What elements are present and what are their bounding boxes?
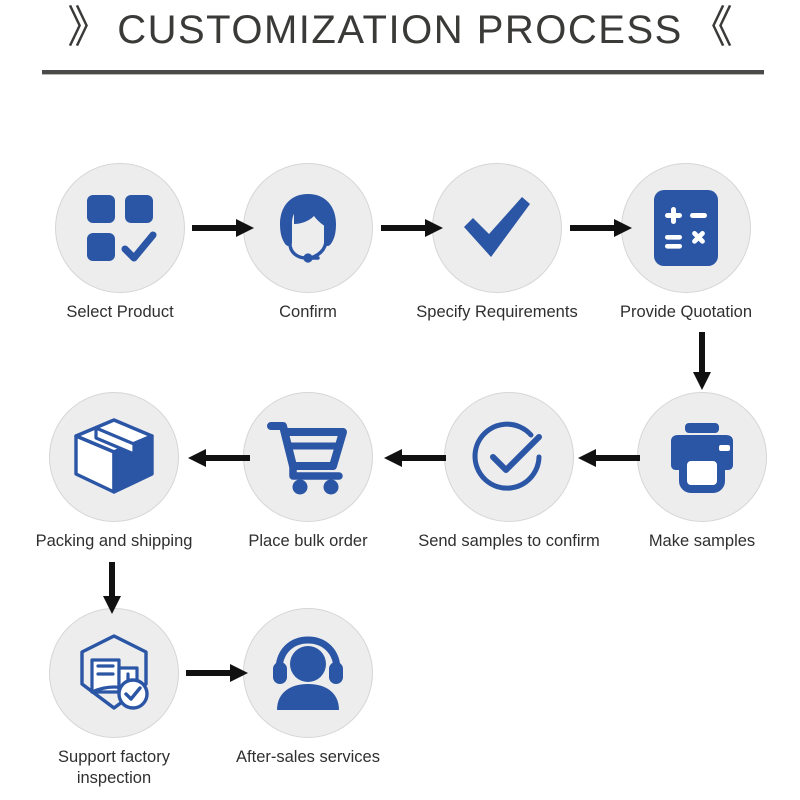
step-icon-circle	[49, 608, 179, 738]
connector-specify-to-quotation	[570, 216, 632, 240]
arrow-right-icon	[186, 661, 248, 685]
header-divider	[42, 70, 764, 75]
step-label: After-sales services	[208, 747, 408, 768]
step-label: Packing and shipping	[14, 531, 214, 552]
printer-icon	[661, 421, 743, 493]
connector-make-samples-to-send-samples	[578, 446, 640, 470]
step-make-samples[interactable]: Make samples	[602, 392, 800, 552]
step-place-bulk-order[interactable]: Place bulk order	[208, 392, 408, 552]
shopping-cart-icon	[267, 418, 349, 496]
grid-check-icon	[83, 191, 157, 265]
page-title: CUSTOMIZATION PROCESS	[117, 10, 683, 50]
box-icon	[72, 416, 156, 498]
headset-person-icon	[267, 634, 349, 712]
step-icon-circle	[243, 608, 373, 738]
chevron-left-double-icon: 《	[689, 6, 733, 50]
step-icon-circle	[243, 163, 373, 293]
step-label: Make samples	[602, 531, 800, 552]
arrow-right-icon	[381, 216, 443, 240]
customization-process-infographic: 》 CUSTOMIZATION PROCESS 《 Select Product	[0, 0, 800, 800]
step-after-sales[interactable]: After-sales services	[208, 608, 408, 768]
arrow-left-icon	[188, 446, 250, 470]
step-select-product[interactable]: Select Product	[20, 163, 220, 323]
shield-factory-check-icon	[73, 632, 155, 714]
connector-send-samples-to-bulk-order	[384, 446, 446, 470]
step-label: Specify Requirements	[397, 302, 597, 323]
step-confirm[interactable]: Confirm	[208, 163, 408, 323]
step-label: Confirm	[208, 302, 408, 323]
connector-packing-to-inspection	[100, 562, 124, 614]
chevron-right-double-icon: 》	[67, 6, 111, 50]
circle-check-icon	[469, 417, 549, 497]
step-label: Send samples to confirm	[409, 531, 609, 552]
step-icon-circle	[444, 392, 574, 522]
arrow-right-icon	[570, 216, 632, 240]
agent-headset-icon	[268, 188, 348, 268]
checkmark-icon	[456, 187, 538, 269]
title-row: 》 CUSTOMIZATION PROCESS 《	[0, 8, 800, 52]
step-icon-circle	[621, 163, 751, 293]
arrow-left-icon	[578, 446, 640, 470]
step-send-samples[interactable]: Send samples to confirm	[409, 392, 609, 552]
step-label: Select Product	[20, 302, 220, 323]
step-provide-quotation[interactable]: Provide Quotation	[586, 163, 786, 323]
step-icon-circle	[49, 392, 179, 522]
calculator-icon	[650, 188, 722, 268]
step-icon-circle	[243, 392, 373, 522]
step-icon-circle	[55, 163, 185, 293]
step-packing-shipping[interactable]: Packing and shipping	[14, 392, 214, 552]
step-label: Provide Quotation	[586, 302, 786, 323]
step-icon-circle	[432, 163, 562, 293]
arrow-left-icon	[384, 446, 446, 470]
arrow-right-icon	[192, 216, 254, 240]
connector-inspection-to-after-sales	[186, 661, 248, 685]
step-specify-requirements[interactable]: Specify Requirements	[397, 163, 597, 323]
step-icon-circle	[637, 392, 767, 522]
arrow-down-icon	[100, 562, 124, 614]
page-header: 》 CUSTOMIZATION PROCESS 《	[0, 0, 800, 92]
step-label: Support factory inspection	[14, 747, 214, 789]
connector-select-product-to-confirm	[192, 216, 254, 240]
step-factory-inspection[interactable]: Support factory inspection	[14, 608, 214, 789]
arrow-down-icon	[690, 332, 714, 390]
connector-quotation-to-make-samples	[690, 332, 714, 390]
connector-bulk-order-to-packing	[188, 446, 250, 470]
connector-confirm-to-specify	[381, 216, 443, 240]
step-label: Place bulk order	[208, 531, 408, 552]
